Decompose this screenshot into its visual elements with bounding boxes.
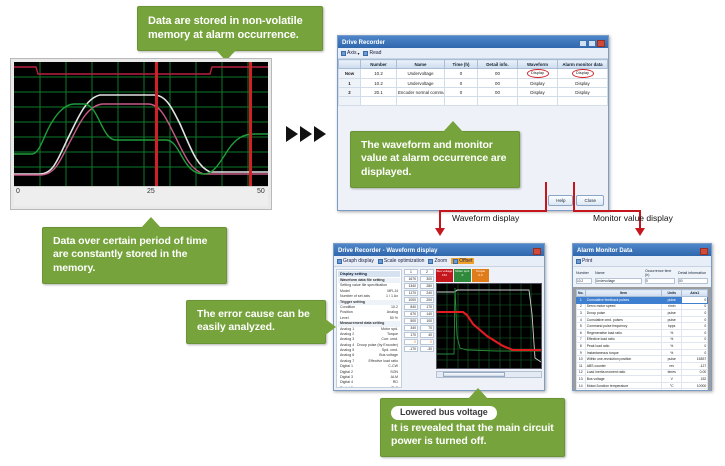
monitor-display-highlight[interactable]: Display (572, 69, 594, 78)
cell-item: Cumulative feedback pulses (585, 297, 661, 304)
cell-unit: °C (662, 382, 682, 389)
scale-value: -170 (404, 346, 418, 352)
table-row[interactable]: Now 10.2 Undervoltage 0 00 Display Displ… (339, 69, 608, 79)
cell-value: 0 (682, 303, 708, 310)
cell-value: 10000 (682, 382, 708, 389)
table-row[interactable]: 14 Motor/Junction temperature °C 10000 (576, 382, 707, 389)
col-axis1[interactable]: Axis1 (682, 290, 708, 297)
offset-icon (453, 259, 458, 264)
cell-value: 0 (682, 336, 708, 343)
legend-torque: Torque 0.0 (472, 269, 489, 282)
cell-item: Within one-revolution position (585, 356, 661, 363)
scale-value: 0 (420, 339, 434, 345)
monitor-header-labels: Number Name Occurrence time (h) Detail i… (576, 269, 708, 277)
row-time: 0 (445, 79, 478, 88)
callout-nonvolatile-memory: Data are stored in non-volatile memory a… (137, 6, 323, 51)
maximize-button[interactable] (588, 40, 596, 47)
row-number (361, 97, 397, 106)
row-monitor-link[interactable]: Display (558, 88, 608, 97)
waveform-display-window[interactable]: Drive Recorder - Waveform display Graph … (333, 243, 545, 391)
cell-unit: pulse (662, 297, 682, 304)
callout-tail-icon (324, 318, 336, 336)
cell-item: Servo motor speed (585, 303, 661, 310)
cell-value: 0 (682, 323, 708, 330)
table-row[interactable]: 12 Load inertia moment ratio times 0.00 (576, 369, 707, 376)
col-monitor[interactable]: Alarm monitor data (558, 60, 608, 69)
row-monitor-link[interactable]: Display (558, 69, 608, 79)
table-row[interactable]: 2 20.1 Encoder normal communication erro… (339, 88, 608, 97)
window-titlebar: Drive Recorder - Waveform display (334, 244, 544, 256)
scale-value: 300 (420, 276, 434, 282)
row-detail (478, 97, 518, 106)
alarm-monitor-window[interactable]: Alarm Monitor Data Print Number Name Occ… (572, 243, 712, 391)
cell-unit: ms (662, 389, 682, 391)
scale-value: 40 (420, 332, 434, 338)
table-row[interactable]: 1 10.2 Undervoltage 0 00 Display Display (339, 79, 608, 88)
scale-value: 1000 (404, 297, 418, 303)
cell-unit: % (662, 329, 682, 336)
cell-no: 12 (576, 369, 585, 376)
toolbar-offset[interactable]: Offset (451, 258, 474, 264)
scale-icon (378, 259, 383, 264)
row-lead: 2 (339, 88, 361, 97)
axis-icon (341, 51, 346, 56)
col-number[interactable]: Number (361, 60, 397, 69)
scale-value: 240 (420, 290, 434, 296)
col-time[interactable]: Time (h) (445, 60, 478, 69)
waveform-toolbar[interactable]: Graph display Scale optimization Zoom Of… (334, 256, 544, 267)
table-row[interactable]: 7 Effective load ratio % 0 (576, 336, 707, 343)
table-row[interactable]: 4 Cumulative cmd. pulses pulse 0 (576, 316, 707, 323)
row-time: 0 (445, 69, 478, 79)
close-icon[interactable] (533, 248, 541, 255)
toolbar-print-button[interactable]: Print (576, 258, 592, 264)
monitor-header-fields: Number Name Occurrence time (h) Detail i… (573, 267, 711, 287)
cell-item: Droop pulse (585, 310, 661, 317)
scale-value: 140 (420, 311, 434, 317)
cell-value: 0 (682, 316, 708, 323)
field-value-number: 10.2 (576, 278, 592, 284)
cell-value: 0 (682, 343, 708, 350)
row-number: 10.2 (361, 69, 397, 79)
legend-bus-voltage: Bus voltage 152 (436, 269, 453, 282)
cell-unit: % (662, 343, 682, 350)
callout-bus-voltage-text: It is revealed that the main circuit pow… (391, 422, 555, 449)
cell-unit: V (662, 376, 682, 383)
print-icon (576, 259, 581, 264)
table-row[interactable]: 5 Command pulse frequency kpps 0 (576, 323, 707, 330)
scale-value: 1670 (404, 276, 418, 282)
cell-value: 0 (682, 297, 708, 304)
monitor-value-table[interactable]: No. Item Units Axis1 1 Cumulative feedba… (576, 289, 708, 391)
window-title-text: Alarm Monitor Data (577, 248, 632, 254)
row-time: 0 (445, 88, 478, 97)
row-name (397, 97, 445, 106)
scope-tick-0: 0 (16, 188, 20, 195)
cell-item: Peak load ratio (585, 343, 661, 350)
cell-value: 0 (682, 389, 708, 391)
row-lead (339, 97, 361, 106)
cell-no: 8 (576, 343, 585, 350)
cell-no: 11 (576, 362, 585, 369)
bus-voltage-pill: Lowered bus voltage (391, 406, 497, 420)
cell-value: 15837 (682, 356, 708, 363)
play-arrow-icon (314, 126, 326, 142)
row-waveform-link[interactable] (518, 97, 558, 106)
cell-item: Instantaneous torque (585, 349, 661, 356)
toolbar-zoom[interactable]: Zoom (428, 258, 447, 264)
waveform-gridlines (437, 284, 541, 369)
cell-unit: % (662, 336, 682, 343)
pointer-line-waveform-vert (545, 182, 547, 212)
row-detail: 00 (478, 79, 518, 88)
scale-columns: 1 2 1670 1340 1170 1000 840 670 500 340 … (403, 267, 436, 390)
callout-constant-storage: Data over certain period of time are con… (42, 227, 227, 284)
cell-item: ABS counter (585, 362, 661, 369)
monitor-header-values: 10.2 Undervoltage 0 00 (576, 278, 708, 284)
toolbar-scale-optimization[interactable]: Scale optimization (378, 258, 425, 264)
cell-value: 152 (682, 376, 708, 383)
row-name: Undervoltage (397, 69, 445, 79)
field-label-number: Number (576, 271, 592, 275)
minimize-button[interactable] (579, 40, 587, 47)
close-icon[interactable] (597, 40, 605, 47)
field-value-name: Undervoltage (595, 278, 642, 284)
cell-no: 15 (576, 389, 585, 391)
cell-item: Motor/Junction temperature (585, 382, 661, 389)
scope-tick-25: 25 (147, 188, 155, 195)
graph-icon (337, 259, 342, 264)
callout-tail-icon (442, 121, 464, 133)
toolbar-offset-label: Offset (459, 258, 472, 264)
stored-period-selection-box[interactable] (155, 62, 252, 186)
table-row[interactable]: 13 Bus voltage V 152 (576, 376, 707, 383)
cell-no: 6 (576, 329, 585, 336)
scale-col-b: 300 280 240 200 170 140 100 70 40 0 -30 (420, 276, 434, 353)
cell-value: 0.00 (682, 369, 708, 376)
scale-value: 280 (420, 283, 434, 289)
scope-tick-50: 50 (257, 188, 265, 195)
callout-error-cause-text: The error cause can be easily analyzed. (197, 308, 310, 333)
scale-value: 170 (420, 304, 434, 310)
cell-no: 9 (576, 349, 585, 356)
label-monitor-value-display: Monitor value display (593, 213, 673, 223)
cell-no: 13 (576, 376, 585, 383)
scale-header-1[interactable]: 1 (404, 269, 418, 275)
cell-no: 3 (576, 310, 585, 317)
cell-item: Regenerative load ratio (585, 329, 661, 336)
cell-unit: kpps (662, 323, 682, 330)
cell-item: Load inertia moment ratio (585, 369, 661, 376)
cell-value: 0 (682, 310, 708, 317)
page-root: Data are stored in non-volatile memory a… (0, 0, 725, 466)
waveform-legend: Bus voltage 152 Motor spd. 0 Torque 0.0 (436, 269, 542, 282)
cell-item: Effective load ratio (585, 336, 661, 343)
table-header-row: No. Item Units Axis1 (576, 290, 707, 297)
window-titlebar: Drive Recorder (338, 36, 608, 48)
col-item[interactable]: Item (585, 290, 661, 297)
cell-item: Settling time (585, 389, 661, 391)
waveform-chart-area: Bus voltage 152 Motor spd. 0 Torque 0.0 (436, 267, 544, 390)
help-button[interactable]: Help (548, 195, 573, 206)
recorder-toolbar[interactable]: Axis ▾ Read (338, 48, 608, 59)
scale-value: 170 (404, 332, 418, 338)
flow-arrows (286, 126, 326, 142)
callout-tail-icon (467, 388, 489, 400)
table-row[interactable]: 1 Cumulative feedback pulses pulse 0 (576, 297, 707, 304)
scrollbar-thumb[interactable] (443, 372, 505, 377)
scale-value: 1170 (404, 290, 418, 296)
close-button[interactable]: Close (576, 195, 604, 206)
cell-no: 5 (576, 323, 585, 330)
row-name: Undervoltage (397, 79, 445, 88)
scale-value: 100 (420, 318, 434, 324)
play-arrow-icon (300, 126, 312, 142)
window-controls[interactable] (579, 40, 605, 47)
cell-value: -127 (682, 362, 708, 369)
pointer-arrow-waveform-icon (435, 228, 445, 236)
toolbar-axis-select[interactable]: Axis ▾ (341, 50, 359, 56)
table-row[interactable]: 6 Regenerative load ratio % 0 (576, 329, 707, 336)
row-number: 10.2 (361, 79, 397, 88)
chevron-down-icon[interactable]: ▾ (357, 51, 359, 56)
cell-value: 0 (682, 329, 708, 336)
cell-no: 7 (576, 336, 585, 343)
display-setting-header[interactable]: Display setting (338, 271, 400, 277)
recorder-footer-buttons[interactable]: Help Close (548, 195, 604, 206)
row-monitor-link[interactable] (558, 97, 608, 106)
alarm-history-table[interactable]: Number Name Time (h) Detail info. Wavefo… (338, 59, 608, 106)
scale-col-headers: 1 2 (404, 269, 435, 276)
cell-no: 14 (576, 382, 585, 389)
scale-value: 840 (404, 304, 418, 310)
col-lead (339, 60, 361, 69)
setting-row: Digital 5 TLC (338, 386, 400, 388)
window-controls[interactable] (533, 248, 541, 255)
cell-item: Bus voltage (585, 376, 661, 383)
cell-unit: pulse (662, 310, 682, 317)
play-arrow-icon (286, 126, 298, 142)
scale-value: 670 (404, 311, 418, 317)
window-controls[interactable] (700, 248, 708, 255)
cell-unit: rev (662, 362, 682, 369)
cell-unit: pulse (662, 316, 682, 323)
table-row[interactable]: 15 Settling time ms 0 (576, 389, 707, 391)
callout-nonvolatile-memory-text: Data are stored in non-volatile memory a… (148, 15, 303, 41)
callout-bus-voltage: Lowered bus voltage It is revealed that … (380, 398, 565, 457)
row-lead: 1 (339, 79, 361, 88)
continuous-waveform-plot (14, 62, 268, 186)
col-detail[interactable]: Detail info. (478, 60, 518, 69)
scale-col-a: 1670 1340 1170 1000 840 670 500 340 170 … (404, 276, 418, 353)
row-time (445, 97, 478, 106)
callout-waveform-monitor-displayed: The waveform and monitor value at alarm … (350, 131, 520, 188)
col-name[interactable]: Name (397, 60, 445, 69)
cell-no: 10 (576, 356, 585, 363)
pointer-line-monitor-vert (573, 182, 575, 212)
toolbar-axis-label: Axis (347, 50, 356, 56)
waveform-body: Display setting Waveform data file setti… (334, 267, 544, 390)
toolbar-graph-display[interactable]: Graph display (337, 258, 374, 264)
table-row[interactable]: 11 ABS counter rev -127 (576, 362, 707, 369)
toolbar-zoom-label: Zoom (434, 258, 447, 264)
window-title-text: Drive Recorder (342, 40, 385, 46)
display-setting-panel[interactable]: Display setting Waveform data file setti… (336, 269, 402, 388)
cell-no: 4 (576, 316, 585, 323)
row-waveform-link[interactable]: Display (518, 88, 558, 97)
table-row[interactable]: 3 Droop pulse pulse 0 (576, 310, 707, 317)
window-titlebar: Alarm Monitor Data (573, 244, 711, 256)
cell-unit: pulse (662, 356, 682, 363)
field-value-detail: 00 (678, 278, 708, 284)
toolbar-read-button[interactable]: Read (363, 50, 381, 56)
cell-item: Cumulative cmd. pulses (585, 316, 661, 323)
scope-x-axis: 0 25 50 (14, 186, 268, 206)
scale-value: 0 (404, 339, 418, 345)
row-lead: Now (339, 69, 361, 79)
toolbar-read-label: Read (369, 50, 381, 56)
table-row[interactable]: 10 Within one-revolution position pulse … (576, 356, 707, 363)
cell-unit: r/min (662, 303, 682, 310)
waveform-scrollbar[interactable] (436, 371, 542, 378)
read-icon (363, 51, 368, 56)
scale-value: 70 (420, 325, 434, 331)
monitor-rows: 1 Cumulative feedback pulses pulse 0 2 S… (576, 297, 707, 392)
field-value-time: 0 (645, 278, 675, 284)
field-label-detail: Detail information (678, 271, 708, 275)
cell-item: Command pulse frequency (585, 323, 661, 330)
close-icon[interactable] (700, 248, 708, 255)
monitor-toolbar[interactable]: Print (573, 256, 711, 267)
field-label-time: Occurrence time (h) (645, 269, 675, 277)
field-label-name: Name (595, 271, 642, 275)
callout-constant-storage-text: Data over certain period of time are con… (53, 235, 207, 274)
cell-no: 1 (576, 297, 585, 304)
cell-value: 0 (682, 349, 708, 356)
row-waveform-link[interactable]: Display (518, 69, 558, 79)
row-name: Encoder normal communication error 2 (397, 88, 445, 97)
pointer-arrow-monitor-icon (635, 228, 645, 236)
waveform-display-highlight[interactable]: Display (527, 69, 549, 78)
label-waveform-display: Waveform display (452, 213, 519, 223)
scale-value: -30 (420, 346, 434, 352)
table-row[interactable] (339, 97, 608, 106)
scale-value: 200 (420, 297, 434, 303)
pointer-line-monitor-horz (573, 210, 641, 212)
continuous-waveform-panel: 0 25 50 (10, 58, 272, 210)
toolbar-print-label: Print (582, 258, 592, 264)
table-row[interactable]: 2 Servo motor speed r/min 0 (576, 303, 707, 310)
table-row[interactable]: 8 Peak load ratio % 0 (576, 343, 707, 350)
scale-values: 1670 1340 1170 1000 840 670 500 340 170 … (404, 276, 435, 353)
window-title-text: Drive Recorder - Waveform display (338, 248, 437, 254)
zoom-icon (428, 259, 433, 264)
col-no[interactable]: No. (576, 290, 585, 297)
row-number: 20.1 (361, 88, 397, 97)
legend-motor-speed: Motor spd. 0 (454, 269, 471, 282)
pointer-line-waveform-horz (439, 210, 547, 212)
col-waveform[interactable]: Waveform (518, 60, 558, 69)
pointer-line-waveform-drop (439, 210, 441, 230)
toolbar-graph-label: Graph display (343, 258, 374, 264)
cell-no: 2 (576, 303, 585, 310)
callout-error-cause: The error cause can be easily analyzed. (186, 300, 326, 344)
scale-value: 500 (404, 318, 418, 324)
scale-value: 340 (404, 325, 418, 331)
table-row[interactable]: 9 Instantaneous torque % 0 (576, 349, 707, 356)
cell-unit: % (662, 349, 682, 356)
scale-header-2[interactable]: 2 (420, 269, 434, 275)
cell-unit: times (662, 369, 682, 376)
row-detail: 00 (478, 88, 518, 97)
callout-waveform-monitor-text: The waveform and monitor value at alarm … (361, 139, 506, 178)
waveform-svg (437, 284, 541, 369)
row-waveform-link[interactable]: Display (518, 79, 558, 88)
col-units[interactable]: Units (662, 290, 682, 297)
scale-value: 1340 (404, 283, 418, 289)
row-monitor-link[interactable]: Display (558, 79, 608, 88)
toolbar-scale-label: Scale optimization (384, 258, 425, 264)
waveform-plot[interactable] (436, 283, 542, 369)
table-header-row: Number Name Time (h) Detail info. Wavefo… (339, 60, 608, 69)
row-detail: 00 (478, 69, 518, 79)
callout-tail-icon (140, 217, 162, 229)
